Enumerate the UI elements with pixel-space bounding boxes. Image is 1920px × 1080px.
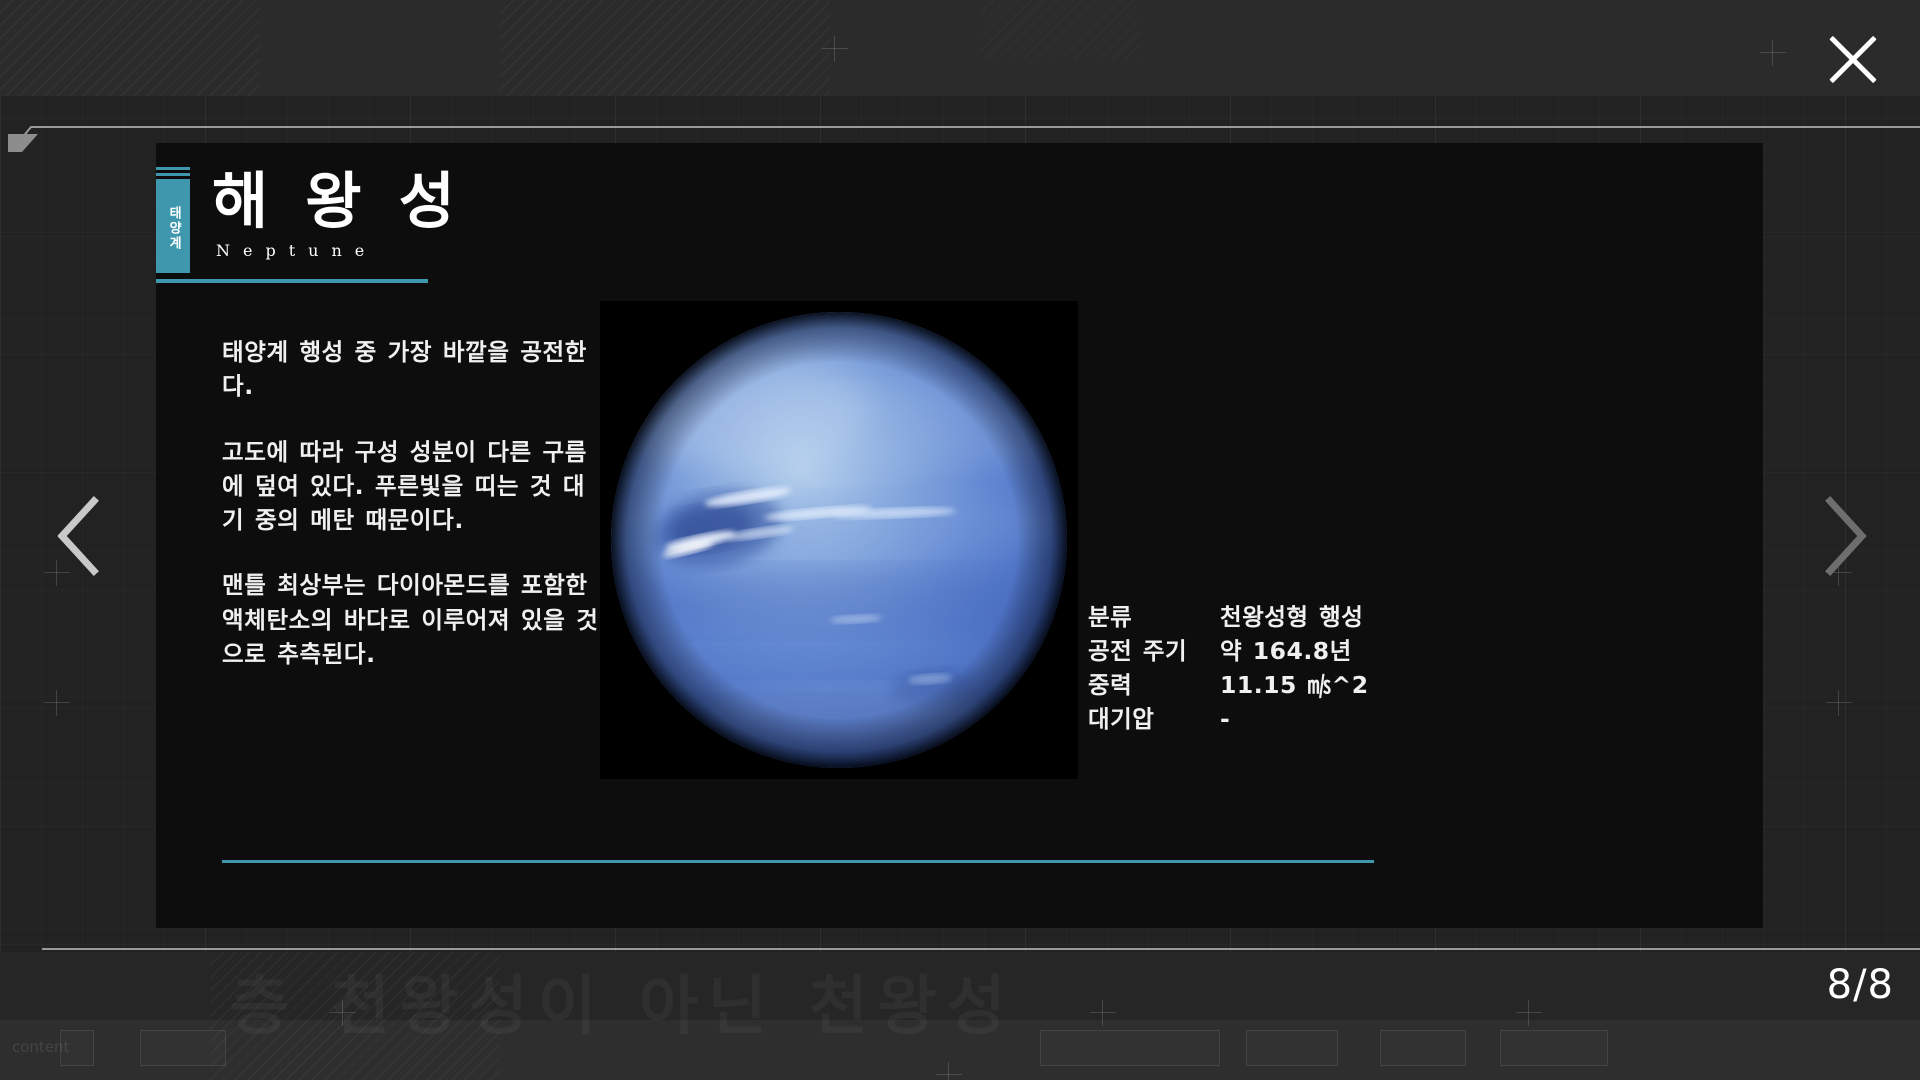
ghost-chip [140, 1030, 226, 1066]
stat-value: 11.15 ㎧^2 [1220, 666, 1369, 700]
crosshair-mark [1090, 1000, 1116, 1026]
category-tab[interactable]: 태양계 [156, 167, 190, 273]
description-paragraph: 태양계 행성 중 가장 바깥을 공전한다. [222, 335, 602, 404]
description-column: 태양계 행성 중 가장 바깥을 공전한다. 고도에 따라 구성 성분이 다른 구… [222, 335, 602, 671]
crosshair-mark [822, 36, 848, 62]
page-indicator: 8/8 [1827, 962, 1894, 1008]
ghost-chip [1500, 1030, 1608, 1066]
stat-value: 약 164.8년 [1220, 632, 1352, 666]
crosshair-mark [44, 690, 70, 716]
planet-stats-table: 분류 천왕성형 행성 공전 주기 약 164.8년 중력 11.15 ㎧^2 대… [1088, 598, 1508, 734]
stat-value: 천왕성형 행성 [1220, 598, 1363, 632]
tab-stripes-decoration [156, 167, 190, 183]
title-underline [156, 279, 428, 283]
stat-value: - [1220, 705, 1230, 733]
ghost-chip [1246, 1030, 1338, 1066]
ghost-chip [1380, 1030, 1466, 1066]
slide-viewer: 층 천왕성이 아닌 천왕성 content [0, 0, 1920, 1080]
bottom-frame-rule [42, 948, 1920, 950]
background-hatch-patch [0, 0, 260, 96]
background-hatch-patch [500, 0, 830, 96]
ghost-chip [60, 1030, 94, 1066]
title-block: 태양계 해 왕 성 Neptune [156, 157, 486, 282]
stat-key: 공전 주기 [1088, 632, 1220, 666]
close-icon[interactable] [1820, 26, 1886, 92]
ghost-chip [1040, 1030, 1220, 1066]
top-left-corner-bracket [8, 126, 66, 172]
stat-row: 대기압 - [1088, 700, 1508, 734]
stat-row: 중력 11.15 ㎧^2 [1088, 666, 1508, 700]
background-hatch-patch [980, 0, 1140, 60]
top-frame-rule [57, 126, 1920, 128]
background-band-top [0, 0, 1920, 96]
page-subtitle: Neptune [216, 241, 377, 260]
stat-key: 중력 [1088, 666, 1220, 700]
background-ghost-text: 층 천왕성이 아닌 천왕성 [230, 955, 1016, 1047]
neptune-planet-image [600, 301, 1078, 779]
page-title: 해 왕 성 [212, 171, 463, 232]
crosshair-mark [1516, 1000, 1542, 1026]
crosshair-mark [1826, 690, 1852, 716]
stat-key: 분류 [1088, 598, 1220, 632]
card-accent-divider [222, 860, 1374, 863]
category-tab-label: 태양계 [165, 206, 181, 251]
description-paragraph: 고도에 따라 구성 성분이 다른 구름에 덮여 있다. 푸른빛을 띠는 것 대기… [222, 435, 602, 538]
crosshair-mark [1760, 40, 1786, 66]
stat-key: 대기압 [1088, 700, 1220, 734]
prev-slide-arrow-icon[interactable] [52, 495, 106, 577]
slide-card: 태양계 해 왕 성 Neptune 태양계 행성 중 가장 바깥을 공전한다. … [156, 143, 1763, 928]
next-slide-arrow-icon[interactable] [1818, 495, 1872, 577]
stat-row: 공전 주기 약 164.8년 [1088, 632, 1508, 666]
crosshair-mark [936, 1062, 962, 1080]
stat-row: 분류 천왕성형 행성 [1088, 598, 1508, 632]
description-paragraph: 맨틀 최상부는 다이아몬드를 포함한 액체탄소의 바다로 이루어져 있을 것으로… [222, 568, 602, 671]
